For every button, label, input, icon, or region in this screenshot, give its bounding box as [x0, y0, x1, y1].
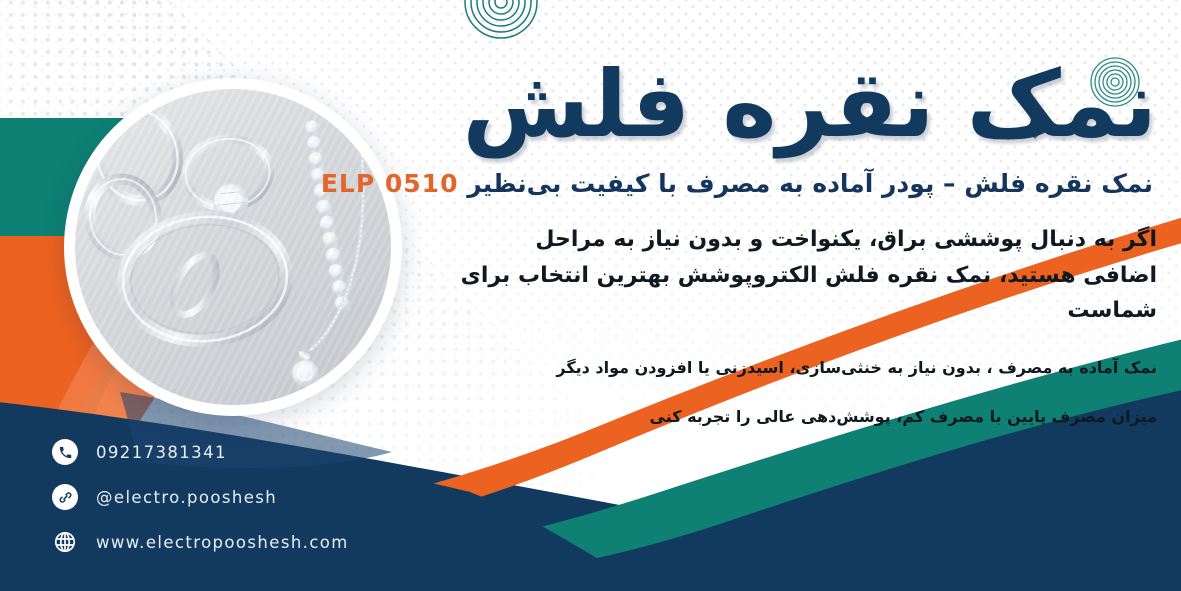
contact-list: 09217381341 @electro.pooshesh www.el	[52, 439, 349, 555]
product-photo	[75, 89, 391, 405]
contact-row-instagram[interactable]: @electro.pooshesh	[52, 484, 349, 510]
link-icon	[52, 484, 78, 510]
product-subline: نمک نقره فلش – پودر آماده به مصرف با کیف…	[437, 168, 1153, 201]
website-url: www.electropooshesh.com	[96, 533, 349, 552]
contact-row-website[interactable]: www.electropooshesh.com	[52, 529, 349, 555]
phone-number: 09217381341	[96, 443, 227, 462]
globe-icon	[52, 529, 78, 555]
lead-paragraph: اگر به دنبال پوششی براق، یکنواخت و بدون …	[457, 222, 1157, 329]
contact-row-phone[interactable]: 09217381341	[52, 439, 349, 465]
page-title: نمک نقره فلش	[437, 56, 1157, 154]
promo-banner: نمک نقره فلش نمک نقره فلش – پودر آماده ب…	[0, 0, 1181, 591]
product-photo-frame	[64, 78, 402, 416]
product-code: ELP 0510	[321, 168, 459, 201]
feature-line-1: نمک آماده به مصرف ، بدون نیاز به خنثی‌سا…	[437, 355, 1157, 381]
instagram-handle: @electro.pooshesh	[96, 488, 277, 507]
subline-text: نمک نقره فلش – پودر آماده به مصرف با کیف…	[467, 169, 1153, 198]
feature-line-2: میزان مصرف پایین با مصرف کم، پوشش‌دهی عا…	[437, 404, 1157, 430]
jewelry-illustration	[75, 89, 391, 405]
copy-block: نمک نقره فلش نمک نقره فلش – پودر آماده ب…	[437, 56, 1157, 430]
phone-icon	[52, 439, 78, 465]
